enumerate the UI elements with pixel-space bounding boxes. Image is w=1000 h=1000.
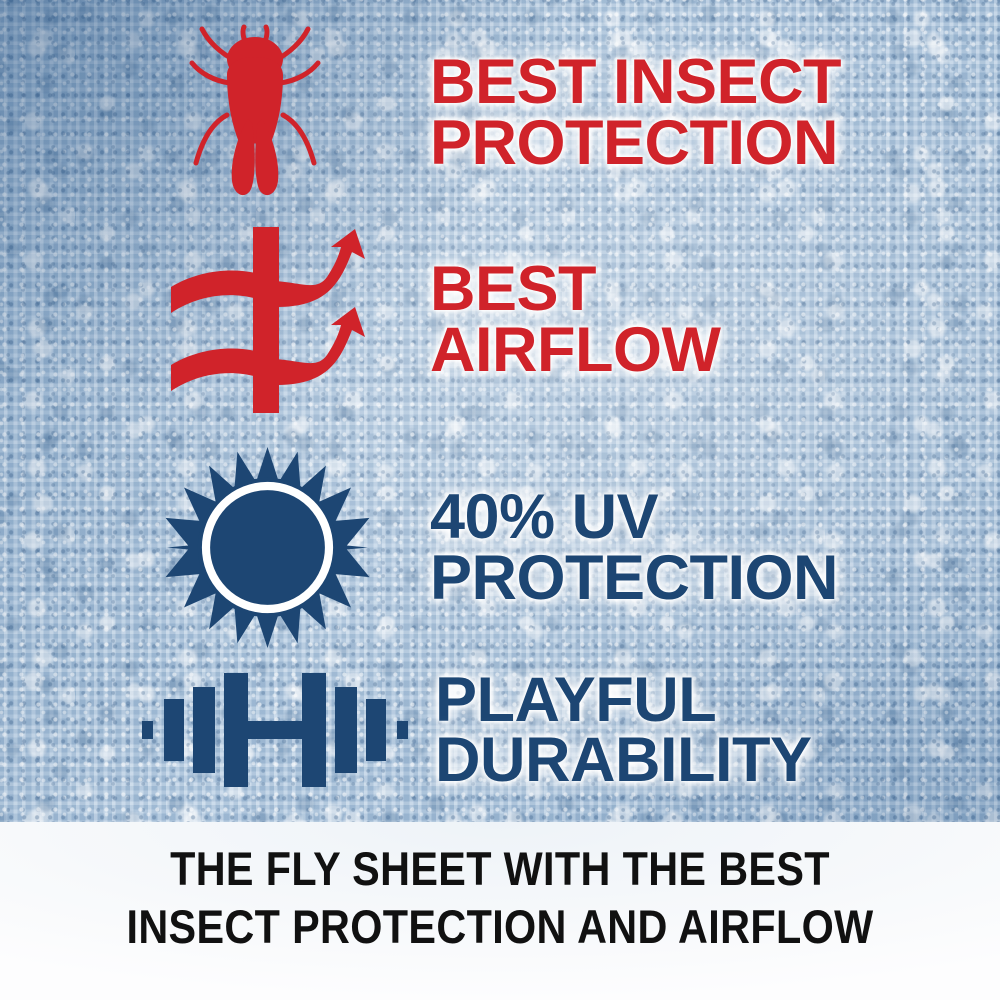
footer-band: THE FLY SHEET WITH THE BEST INSECT PROTE…: [0, 822, 1000, 1000]
feature-row-uv-protection: 40% UV PROTECTION: [160, 440, 980, 655]
feature-row-airflow: BEST AIRFLOW: [160, 222, 980, 417]
feature-label-uv-protection: 40% UV PROTECTION: [430, 487, 838, 608]
feature-label-durability: PLAYFUL DURABILITY: [435, 670, 811, 791]
feature-row-insect-protection: BEST INSECT PROTECTION: [175, 20, 975, 205]
feature-row-durability: PLAYFUL DURABILITY: [135, 650, 985, 810]
dumbbell-icon: [135, 650, 415, 810]
feature-label-insect-protection: BEST INSECT PROTECTION: [430, 52, 841, 173]
footer-caption: THE FLY SHEET WITH THE BEST INSECT PROTE…: [60, 840, 940, 956]
feature-label-airflow: BEST AIRFLOW: [430, 259, 720, 380]
sun-icon: [160, 440, 375, 655]
airflow-arrows-icon: [160, 222, 375, 417]
fly-icon: [175, 20, 335, 205]
product-feature-infographic: BEST INSECT PROTECTION BEST AIRFLO: [0, 0, 1000, 1000]
